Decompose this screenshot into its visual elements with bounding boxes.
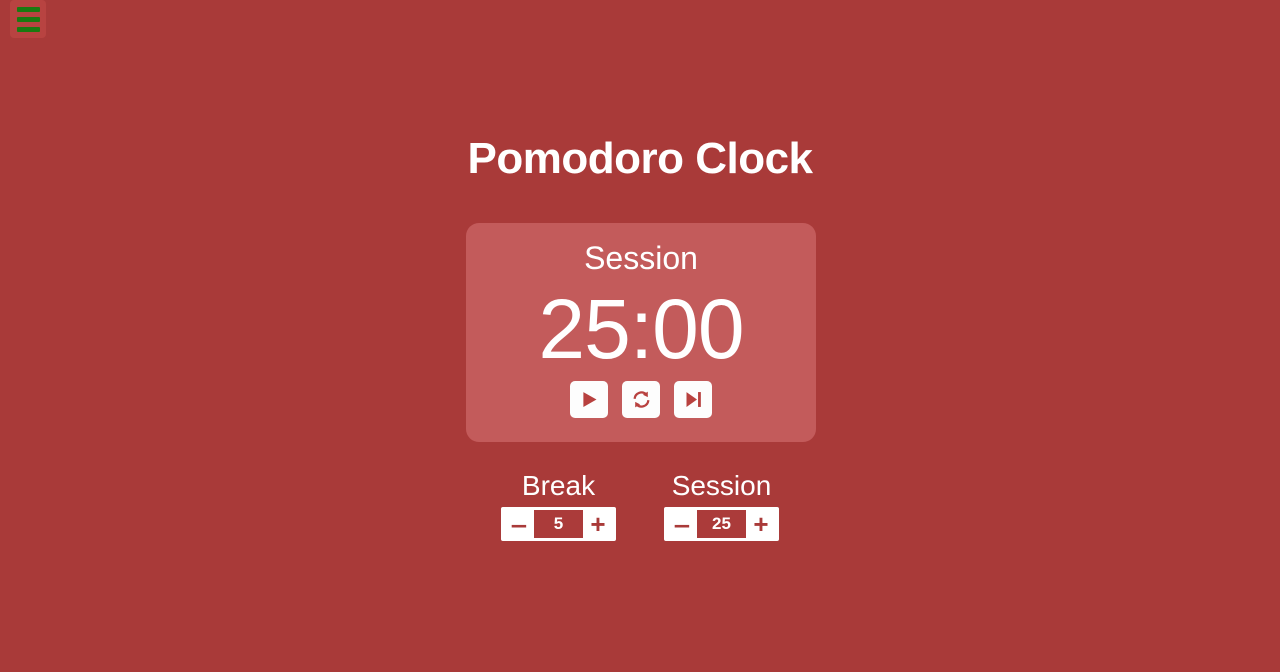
hamburger-menu-button[interactable] — [10, 0, 46, 38]
refresh-icon — [631, 389, 652, 410]
break-decrement-button[interactable]: ‒ — [504, 510, 534, 538]
play-button[interactable] — [570, 381, 608, 418]
skip-forward-icon — [683, 389, 704, 410]
break-length-group: Break ‒ 5 + — [501, 468, 616, 541]
page-title: Pomodoro Clock — [0, 131, 1280, 186]
session-length-value: 25 — [697, 510, 746, 538]
length-settings: Break ‒ 5 + Session ‒ 25 + — [0, 468, 1280, 541]
hamburger-menu-icon-bar-2 — [17, 17, 40, 22]
play-icon — [579, 389, 600, 410]
hamburger-menu-icon — [17, 7, 40, 12]
session-length-stepper: ‒ 25 + — [664, 507, 779, 541]
break-length-label: Break — [522, 468, 595, 504]
session-increment-button[interactable]: + — [746, 510, 776, 538]
timer-panel: Session 25:00 — [466, 223, 816, 442]
timer-mode-label: Session — [584, 237, 698, 279]
break-length-stepper: ‒ 5 + — [501, 507, 616, 541]
session-decrement-button[interactable]: ‒ — [667, 510, 697, 538]
hamburger-menu-icon-bar-3 — [17, 27, 40, 32]
break-increment-button[interactable]: + — [583, 510, 613, 538]
reset-button[interactable] — [622, 381, 660, 418]
session-length-group: Session ‒ 25 + — [664, 468, 779, 541]
timer-controls — [570, 381, 712, 418]
timer-display: 25:00 — [538, 281, 743, 377]
skip-button[interactable] — [674, 381, 712, 418]
session-length-label: Session — [672, 468, 772, 504]
break-length-value: 5 — [534, 510, 583, 538]
